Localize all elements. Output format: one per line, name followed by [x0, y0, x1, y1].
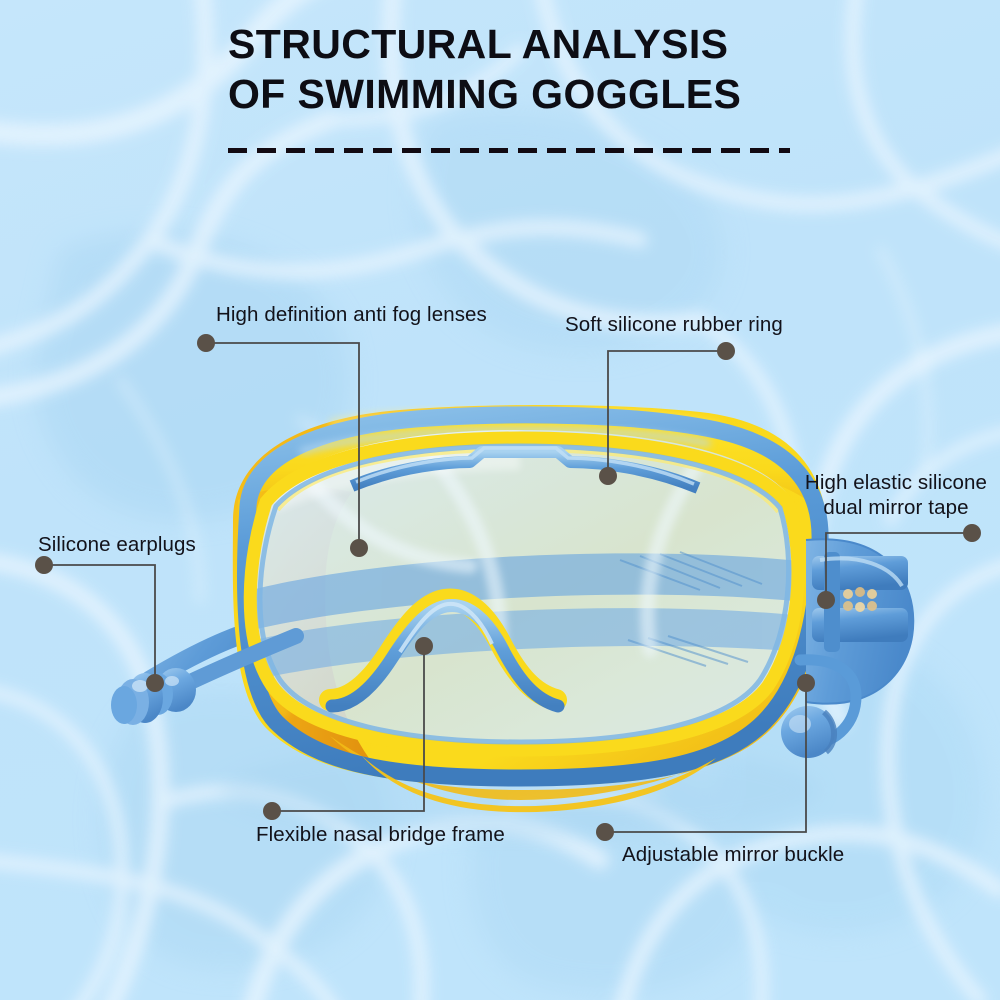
infographic-canvas: STRUCTURAL ANALYSIS OF SWIMMING GOGGLES	[0, 0, 1000, 1000]
dot-soft-silicone-rubber-ring-end	[599, 467, 617, 485]
dot-adjustable-mirror-buckle-end	[797, 674, 815, 692]
leader-dual-mirror-tape	[826, 533, 972, 600]
dot-flexible-nasal-bridge-frame-start	[263, 802, 281, 820]
dot-hd-anti-fog-lenses-start	[197, 334, 215, 352]
dot-flexible-nasal-bridge-frame-end	[415, 637, 433, 655]
callout-label-high-elastic-silicone-dual-mirror-tape: High elastic silicone dual mirror tape	[798, 470, 994, 520]
leader-soft-silicone-rubber-ring	[608, 351, 726, 476]
callout-label-flexible-nasal-bridge-frame: Flexible nasal bridge frame	[256, 822, 505, 847]
dot-dual-mirror-tape-end	[817, 591, 835, 609]
callout-label-soft-silicone-rubber-ring: Soft silicone rubber ring	[565, 312, 783, 337]
dual-mirror-tape-line-2: dual mirror tape	[798, 495, 994, 520]
dot-dual-mirror-tape-start	[963, 524, 981, 542]
dual-mirror-tape-line-1: High elastic silicone	[798, 470, 994, 495]
dot-hd-anti-fog-lenses-end	[350, 539, 368, 557]
leader-hd-anti-fog-lenses	[206, 343, 359, 548]
leader-adjustable-mirror-buckle	[605, 683, 806, 832]
dot-adjustable-mirror-buckle-start	[596, 823, 614, 841]
dot-soft-silicone-rubber-ring-start	[717, 342, 735, 360]
dot-silicone-earplugs-end	[146, 674, 164, 692]
leader-flexible-nasal-bridge-frame	[272, 646, 424, 811]
callout-label-adjustable-mirror-buckle: Adjustable mirror buckle	[622, 842, 844, 867]
dot-silicone-earplugs-start	[35, 556, 53, 574]
leader-silicone-earplugs	[44, 565, 155, 683]
callout-label-hd-anti-fog-lenses: High definition anti fog lenses	[216, 302, 487, 327]
callout-label-silicone-earplugs: Silicone earplugs	[38, 532, 196, 557]
